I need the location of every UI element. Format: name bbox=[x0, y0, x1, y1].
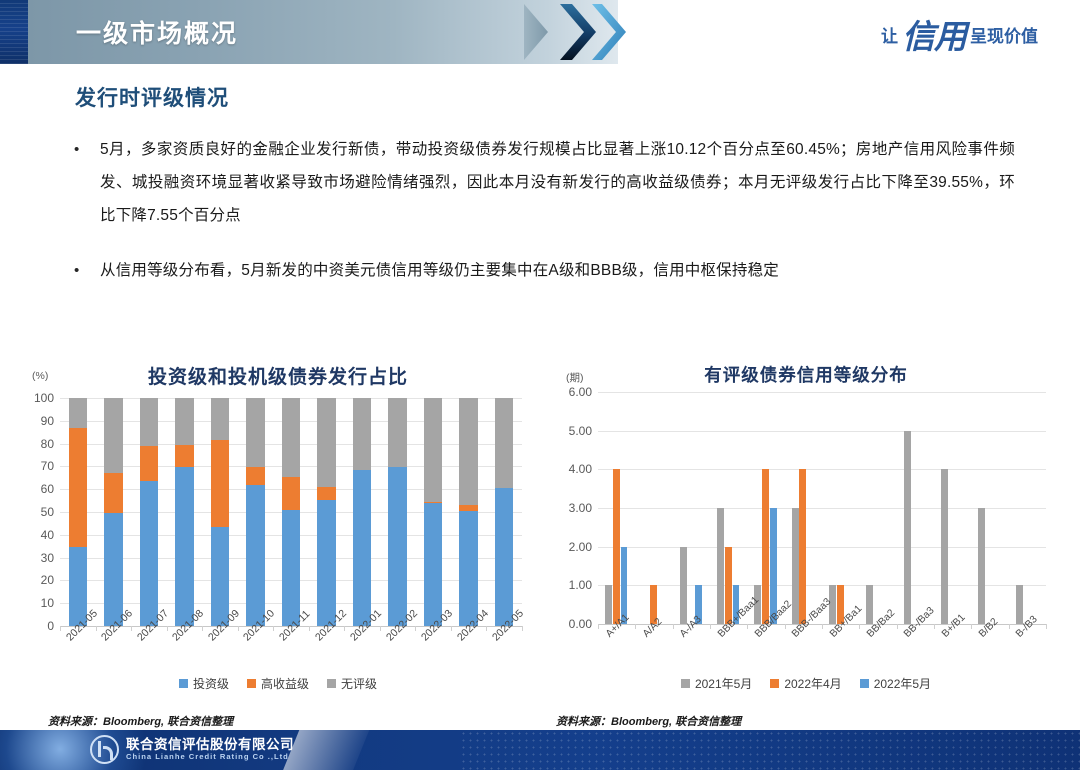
bar-segment bbox=[353, 398, 371, 470]
x-axis-tick bbox=[897, 624, 898, 629]
y-axis-tick-label: 100 bbox=[18, 391, 54, 405]
x-axis-tick bbox=[971, 624, 972, 629]
x-axis-tick bbox=[309, 626, 310, 631]
x-axis-tick bbox=[273, 626, 274, 631]
bar-stack bbox=[175, 398, 193, 626]
bar bbox=[605, 585, 612, 624]
bar-segment bbox=[317, 398, 335, 487]
bar-stack bbox=[246, 398, 264, 626]
section-title: 发行时评级情况 bbox=[75, 82, 229, 112]
bar-segment bbox=[246, 467, 264, 485]
footer-dot-pattern bbox=[460, 730, 1080, 770]
source-note-left: 资料来源：Bloomberg, 联合资信整理 bbox=[48, 713, 233, 729]
x-axis-tick bbox=[167, 626, 168, 631]
legend-label: 无评级 bbox=[341, 675, 377, 692]
x-axis-tick bbox=[635, 624, 636, 629]
bar-stack bbox=[140, 398, 158, 626]
y-axis-tick-label: 50 bbox=[18, 505, 54, 519]
bar-segment bbox=[282, 477, 300, 510]
legend-item: 2022年5月 bbox=[860, 675, 931, 692]
bullet-marker: • bbox=[70, 254, 100, 287]
x-axis-tick bbox=[415, 626, 416, 631]
legend-label: 2021年5月 bbox=[695, 675, 752, 692]
bar-stack bbox=[495, 398, 513, 626]
x-axis-tick bbox=[344, 626, 345, 631]
legend-item: 2022年4月 bbox=[770, 675, 841, 692]
bar-segment bbox=[459, 398, 477, 505]
bar-segment bbox=[388, 467, 406, 626]
y-axis-tick-label: 30 bbox=[18, 551, 54, 565]
grid-line bbox=[598, 431, 1046, 432]
bar-segment bbox=[424, 503, 442, 626]
bar-stack bbox=[104, 398, 122, 626]
list-item: • 5月，多家资质良好的金融企业发行新债，带动投资级债券发行规模占比显著上涨10… bbox=[70, 133, 1015, 232]
x-axis-tick bbox=[131, 626, 132, 631]
bar-segment bbox=[69, 428, 87, 547]
bar-segment bbox=[495, 398, 513, 488]
legend-swatch bbox=[860, 679, 869, 688]
bar bbox=[725, 547, 732, 624]
bar-segment bbox=[140, 446, 158, 480]
bar-segment bbox=[282, 510, 300, 626]
y-axis-tick-label: 3.00 bbox=[546, 501, 592, 515]
y-axis-tick-label: 5.00 bbox=[546, 424, 592, 438]
source-note-right: 资料来源：Bloomberg, 联合资信整理 bbox=[556, 713, 741, 729]
bar-stack bbox=[69, 398, 87, 626]
bar bbox=[866, 585, 873, 624]
page-title: 一级市场概况 bbox=[76, 14, 238, 50]
bar-segment bbox=[495, 488, 513, 626]
x-axis-tick bbox=[380, 626, 381, 631]
bar-segment bbox=[388, 398, 406, 467]
legend-swatch bbox=[681, 679, 690, 688]
bar-stack bbox=[317, 398, 335, 626]
bar bbox=[613, 469, 620, 624]
legend-label: 高收益级 bbox=[261, 675, 309, 692]
bar bbox=[717, 508, 724, 624]
chart-title: 有评级债券信用等级分布 bbox=[546, 362, 1066, 387]
company-logo: 联合资信评估股份有限公司 China Lianhe Credit Rating … bbox=[90, 735, 294, 764]
bar-segment bbox=[317, 500, 335, 626]
brand-suffix: 呈现价值 bbox=[970, 22, 1038, 47]
bar bbox=[904, 431, 911, 624]
bar-segment bbox=[69, 398, 87, 428]
chevron-right-icon-3 bbox=[592, 4, 638, 60]
grid-line bbox=[598, 469, 1046, 470]
y-axis-tick-label: 20 bbox=[18, 573, 54, 587]
x-axis-tick bbox=[96, 626, 97, 631]
bar-segment bbox=[246, 485, 264, 626]
bullet-text: 从信用等级分布看，5月新发的中资美元债信用等级仍主要集中在A级和BBB级，信用中… bbox=[100, 254, 1015, 287]
y-axis-tick-label: 40 bbox=[18, 528, 54, 542]
chart-legend: 投资级高收益级无评级 bbox=[18, 675, 538, 692]
y-axis-tick-label: 0.00 bbox=[546, 617, 592, 631]
bar-stack bbox=[388, 398, 406, 626]
bar-segment bbox=[104, 513, 122, 626]
brand-prefix: 让 bbox=[881, 22, 898, 47]
x-axis-tick bbox=[822, 624, 823, 629]
y-axis-tick-label: 2.00 bbox=[546, 540, 592, 554]
x-axis-tick bbox=[451, 626, 452, 631]
bar-segment bbox=[424, 502, 442, 504]
x-axis-tick bbox=[1046, 624, 1047, 629]
y-axis-tick-label: 0 bbox=[18, 619, 54, 633]
y-axis-tick-label: 60 bbox=[18, 482, 54, 496]
bar-segment bbox=[175, 467, 193, 626]
legend-swatch bbox=[247, 679, 256, 688]
legend-swatch bbox=[770, 679, 779, 688]
bar-stack bbox=[211, 398, 229, 626]
bar bbox=[762, 469, 769, 624]
legend-label: 2022年5月 bbox=[874, 675, 931, 692]
x-axis-tick bbox=[1009, 624, 1010, 629]
bar-stack bbox=[459, 398, 477, 626]
bar-segment bbox=[211, 398, 229, 440]
bar-stack bbox=[282, 398, 300, 626]
x-axis-tick bbox=[934, 624, 935, 629]
x-axis-tick bbox=[859, 624, 860, 629]
y-axis-tick-label: 10 bbox=[18, 596, 54, 610]
company-name-cn: 联合资信评估股份有限公司 bbox=[126, 737, 294, 752]
legend-item: 2021年5月 bbox=[681, 675, 752, 692]
bar-segment bbox=[282, 398, 300, 477]
bar bbox=[770, 508, 777, 624]
bar-stack bbox=[424, 398, 442, 626]
chart-plot-area bbox=[60, 398, 522, 626]
page-header: 一级市场概况 让 信用 呈现价值 bbox=[0, 0, 1080, 64]
y-axis-tick-label: 4.00 bbox=[546, 462, 592, 476]
x-axis-tick bbox=[486, 626, 487, 631]
bar-stack bbox=[353, 398, 371, 626]
x-axis-tick bbox=[598, 624, 599, 629]
bar-segment bbox=[317, 487, 335, 500]
header-left-strip bbox=[0, 0, 28, 64]
company-name-block: 联合资信评估股份有限公司 China Lianhe Credit Rating … bbox=[126, 737, 294, 762]
bar-segment bbox=[459, 511, 477, 626]
bar bbox=[799, 469, 806, 624]
bar bbox=[1016, 585, 1023, 624]
lianhe-logo-icon bbox=[90, 735, 119, 764]
header-divider bbox=[0, 64, 1080, 67]
legend-label: 2022年4月 bbox=[784, 675, 841, 692]
brand-logo: 让 信用 呈现价值 bbox=[881, 14, 1038, 54]
x-axis-tick bbox=[785, 624, 786, 629]
bar-segment bbox=[246, 398, 264, 467]
bar-segment bbox=[211, 440, 229, 527]
company-name-en: China Lianhe Credit Rating Co .,Ltd bbox=[126, 752, 294, 762]
bullet-list: • 5月，多家资质良好的金融企业发行新债，带动投资级债券发行规模占比显著上涨10… bbox=[70, 133, 1015, 309]
page-footer: 联合资信评估股份有限公司 China Lianhe Credit Rating … bbox=[0, 730, 1080, 770]
bar bbox=[978, 508, 985, 624]
x-axis-tick bbox=[238, 626, 239, 631]
bar-segment bbox=[175, 445, 193, 467]
y-axis-tick-label: 6.00 bbox=[546, 385, 592, 399]
bar-segment bbox=[211, 527, 229, 626]
y-axis-tick-label: 70 bbox=[18, 459, 54, 473]
bar-segment bbox=[424, 398, 442, 502]
bar-segment bbox=[104, 473, 122, 514]
bullet-marker: • bbox=[70, 133, 100, 232]
x-axis-tick bbox=[202, 626, 203, 631]
x-axis-tick bbox=[60, 626, 61, 631]
legend-item: 无评级 bbox=[327, 675, 377, 692]
x-axis-tick bbox=[710, 624, 711, 629]
legend-swatch bbox=[327, 679, 336, 688]
x-axis-tick bbox=[673, 624, 674, 629]
bar-segment bbox=[140, 481, 158, 626]
y-axis-tick-label: 80 bbox=[18, 437, 54, 451]
chart-plot-area bbox=[598, 392, 1046, 624]
bar-segment bbox=[140, 398, 158, 446]
chart-issuance-share: (%) 投资级和投机级债券发行占比 投资级高收益级无评级 01020304050… bbox=[18, 358, 538, 706]
y-axis-tick-label: 1.00 bbox=[546, 578, 592, 592]
legend-swatch bbox=[179, 679, 188, 688]
chart-legend: 2021年5月2022年4月2022年5月 bbox=[546, 675, 1066, 692]
bar-segment bbox=[104, 398, 122, 473]
bar-segment bbox=[353, 470, 371, 626]
legend-item: 投资级 bbox=[179, 675, 229, 692]
brand-main: 信用 bbox=[900, 10, 968, 58]
x-axis-tick bbox=[522, 626, 523, 631]
bullet-text: 5月，多家资质良好的金融企业发行新债，带动投资级债券发行规模占比显著上涨10.1… bbox=[100, 133, 1015, 232]
chart-rating-distribution: (期) 有评级债券信用等级分布 2021年5月2022年4月2022年5月 0.… bbox=[546, 358, 1066, 706]
x-axis-tick bbox=[747, 624, 748, 629]
y-axis-tick-label: 90 bbox=[18, 414, 54, 428]
bar bbox=[941, 469, 948, 624]
grid-line bbox=[598, 392, 1046, 393]
chart-title: 投资级和投机级债券发行占比 bbox=[18, 362, 538, 389]
bar bbox=[680, 547, 687, 624]
legend-item: 高收益级 bbox=[247, 675, 309, 692]
list-item: • 从信用等级分布看，5月新发的中资美元债信用等级仍主要集中在A级和BBB级，信… bbox=[70, 254, 1015, 287]
bar-segment bbox=[459, 505, 477, 511]
legend-label: 投资级 bbox=[193, 675, 229, 692]
bar-segment bbox=[175, 398, 193, 445]
